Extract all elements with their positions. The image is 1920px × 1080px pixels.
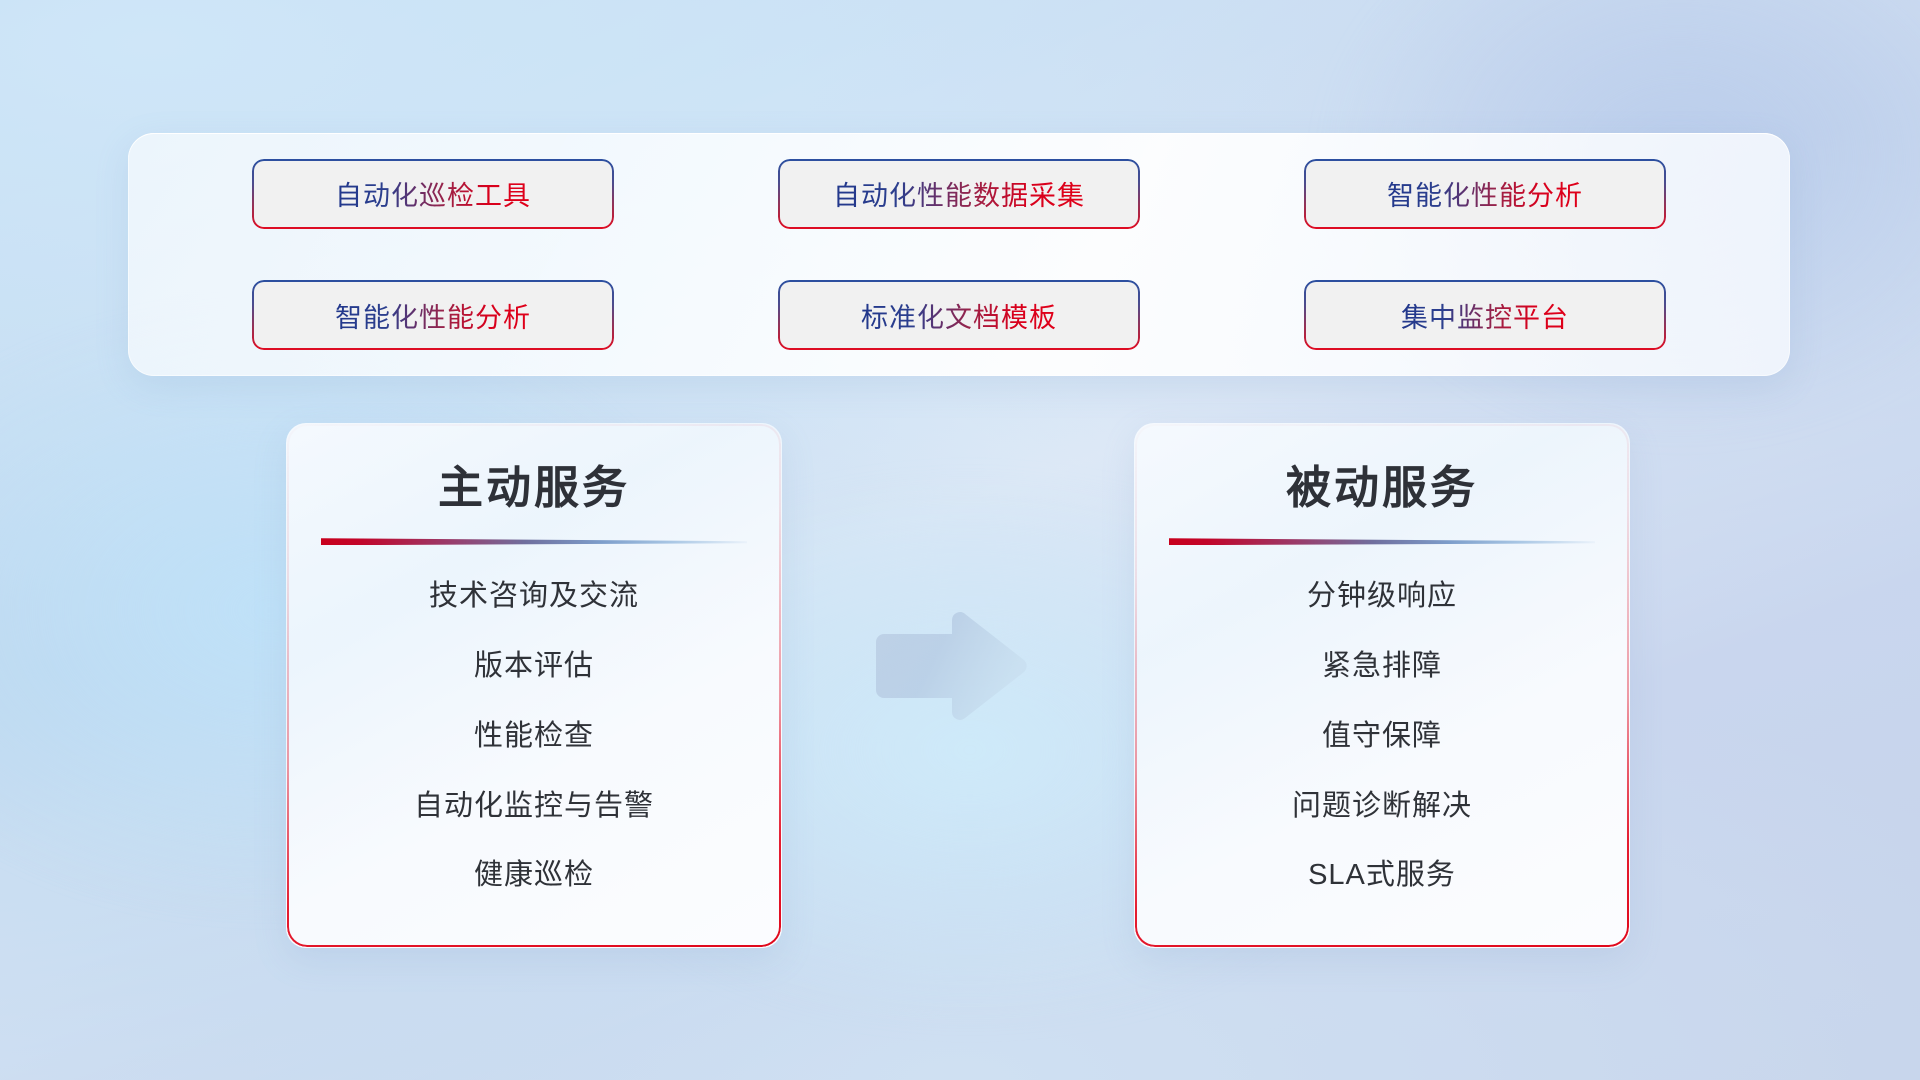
list-item: 问题诊断解决	[1169, 789, 1595, 824]
list-item: 自动化监控与告警	[321, 789, 747, 824]
capability-pill-label: 集中监控平台	[1401, 296, 1569, 335]
capability-pill-label: 标准化文档模板	[861, 296, 1057, 335]
capability-pill-label: 智能化性能分析	[335, 296, 531, 335]
list-item: 值守保障	[1169, 719, 1595, 754]
service-card-divider	[321, 538, 747, 545]
capability-pill-5[interactable]: 标准化文档模板	[780, 282, 1138, 348]
service-card-divider	[1169, 538, 1595, 545]
service-card-reactive: 被动服务 分钟级响应 紧急排障 值守保障 问题诊断解决 SLA式服务	[1134, 423, 1630, 948]
list-item: 版本评估	[321, 649, 747, 684]
list-item: 紧急排障	[1169, 649, 1595, 684]
list-item: 健康巡检	[321, 858, 747, 893]
service-card-title: 主动服务	[321, 460, 747, 516]
arrow-right-icon	[872, 612, 1030, 720]
list-item: 性能检查	[321, 719, 747, 754]
capability-pill-1[interactable]: 自动化巡检工具	[254, 161, 612, 227]
capability-pill-4[interactable]: 智能化性能分析	[254, 282, 612, 348]
capability-pill-2[interactable]: 自动化性能数据采集	[780, 161, 1138, 227]
list-item: 技术咨询及交流	[321, 579, 747, 614]
capability-pill-6[interactable]: 集中监控平台	[1306, 282, 1664, 348]
capability-pill-label: 自动化巡检工具	[335, 174, 531, 213]
service-card-list: 分钟级响应 紧急排障 值守保障 问题诊断解决 SLA式服务	[1169, 579, 1595, 947]
list-item: 分钟级响应	[1169, 579, 1595, 614]
capability-pill-label: 智能化性能分析	[1387, 174, 1583, 213]
capability-pill-3[interactable]: 智能化性能分析	[1306, 161, 1664, 227]
service-card-list: 技术咨询及交流 版本评估 性能检查 自动化监控与告警 健康巡检	[321, 579, 747, 947]
service-card-proactive: 主动服务 技术咨询及交流 版本评估 性能检查 自动化监控与告警 健康巡检	[286, 423, 782, 948]
capability-panel: 自动化巡检工具 自动化性能数据采集 智能化性能分析 智能化性能分析 标准化文档模…	[128, 133, 1790, 376]
list-item: SLA式服务	[1169, 858, 1595, 893]
service-card-title: 被动服务	[1169, 460, 1595, 516]
capability-pill-label: 自动化性能数据采集	[833, 174, 1085, 213]
